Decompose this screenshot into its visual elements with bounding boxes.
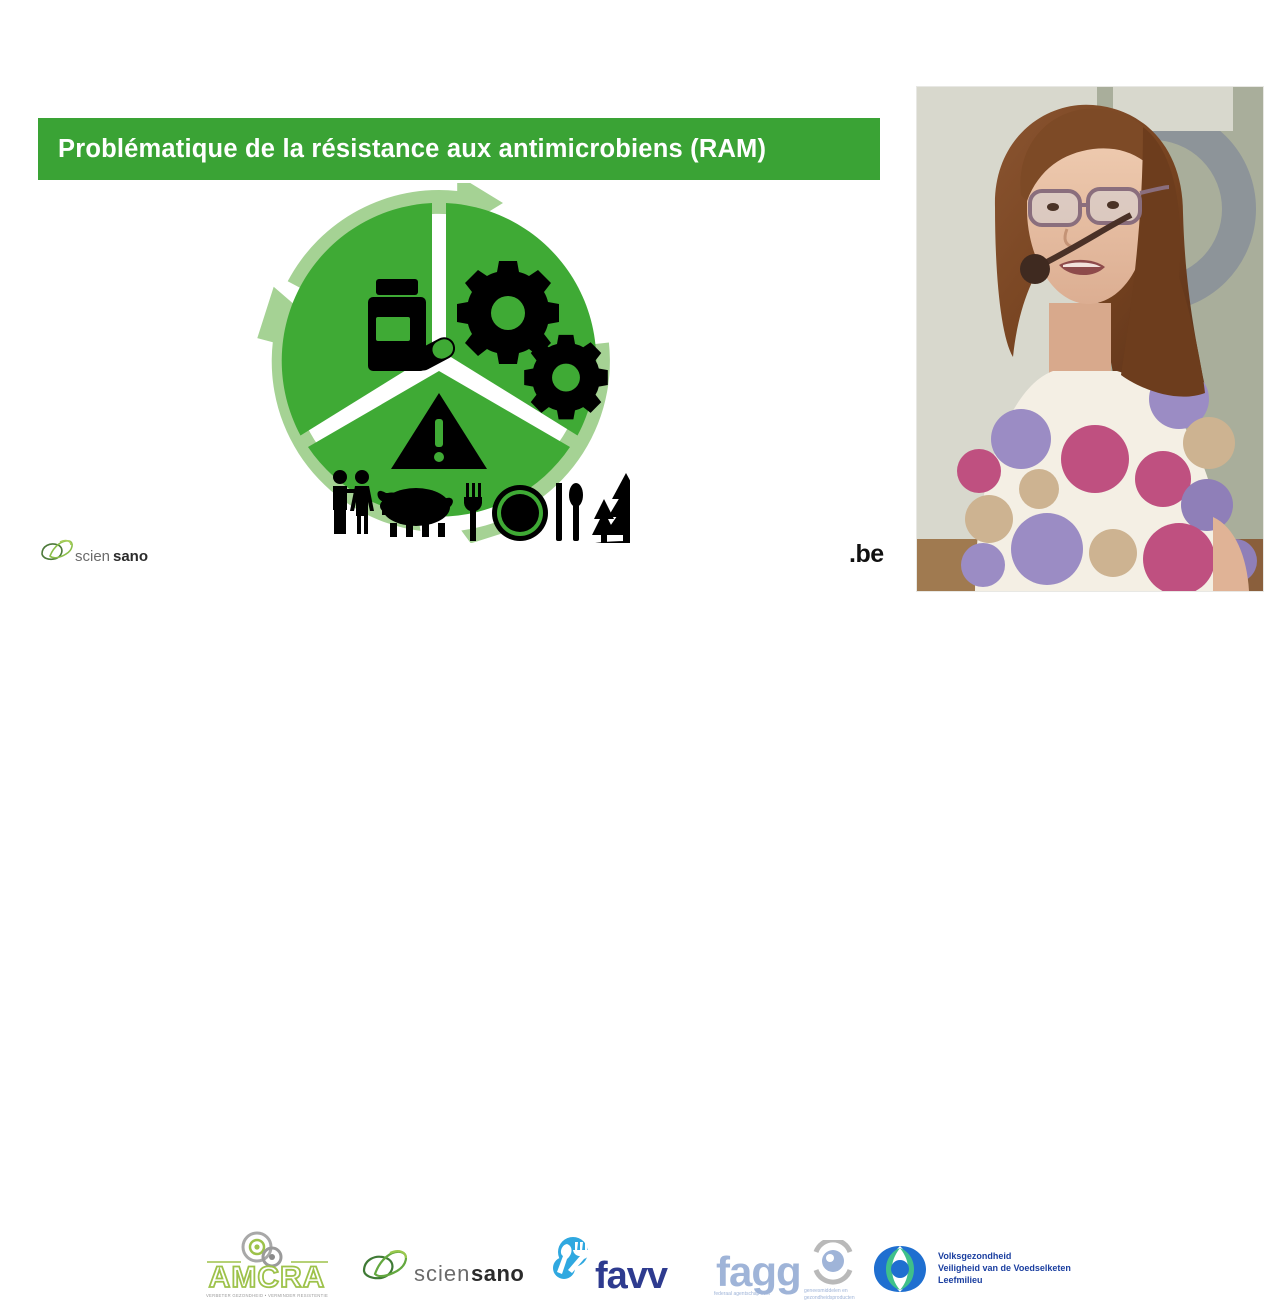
fagg-wordmark: fagg	[716, 1248, 801, 1295]
three-segment-cycle-diagram	[248, 183, 630, 543]
sciensano-mark-icon	[364, 1251, 406, 1278]
amcra-tagline: VERBETER GEZONDHEID • VERMINDER RESISTEN…	[206, 1293, 328, 1298]
amcra-logo[interactable]: AMCRA VERBETER GEZONDHEID • VERMINDER RE…	[205, 1231, 330, 1301]
page-title: Problématique de la résistance aux antim…	[38, 135, 766, 164]
vgz-line-3: Leefmilieu	[938, 1275, 983, 1285]
slide-title-bar: Problématique de la résistance aux antim…	[38, 118, 880, 180]
environment-trees-icon	[584, 473, 630, 543]
sciensano-text-bold: sano	[113, 548, 148, 565]
fagg-subtitle-right-1: geneesmiddelen en	[804, 1288, 848, 1294]
favv-logo[interactable]: favv	[549, 1236, 684, 1296]
speaker-video-feed[interactable]	[916, 86, 1264, 592]
fagg-mark-icon	[816, 1240, 850, 1282]
sciensano-text-bold: sano	[471, 1261, 524, 1286]
favv-mark-icon	[553, 1237, 589, 1279]
favv-wordmark: favv	[595, 1255, 668, 1296]
amcra-wordmark: AMCRA	[209, 1261, 326, 1294]
medicine-bottle-pill-icon	[368, 279, 459, 374]
partner-logo-bar: AMCRA VERBETER GEZONDHEID • VERMINDER RE…	[0, 600, 1280, 720]
sciensano-logo-bottom[interactable]: scien sano	[358, 1245, 526, 1293]
sciensano-mark-icon	[42, 541, 72, 560]
presentation-slide: Problématique de la résistance aux antim…	[0, 0, 900, 600]
vgz-line-2: Veiligheid van de Voedselketen	[938, 1263, 1071, 1273]
sciensano-logo-slide: scien sano	[38, 536, 153, 570]
sciensano-text-light: scien	[414, 1261, 470, 1286]
vgz-mark-icon	[874, 1246, 926, 1292]
sciensano-text-light: scien	[75, 548, 110, 565]
volksgezondheid-logo[interactable]: Volksgezondheid Veiligheid van de Voedse…	[874, 1244, 1079, 1294]
vgz-line-1: Volksgezondheid	[938, 1251, 1011, 1261]
screenshot-root: Problématique de la résistance aux antim…	[0, 0, 1280, 720]
fagg-logo[interactable]: fagg federaal agentschap voor geneesmidd…	[712, 1240, 860, 1300]
be-domain-mark: .be	[849, 540, 884, 569]
fagg-subtitle-right-2: gezondheidsproducten	[804, 1295, 855, 1300]
fagg-subtitle-left: federaal agentschap voor	[714, 1291, 771, 1297]
